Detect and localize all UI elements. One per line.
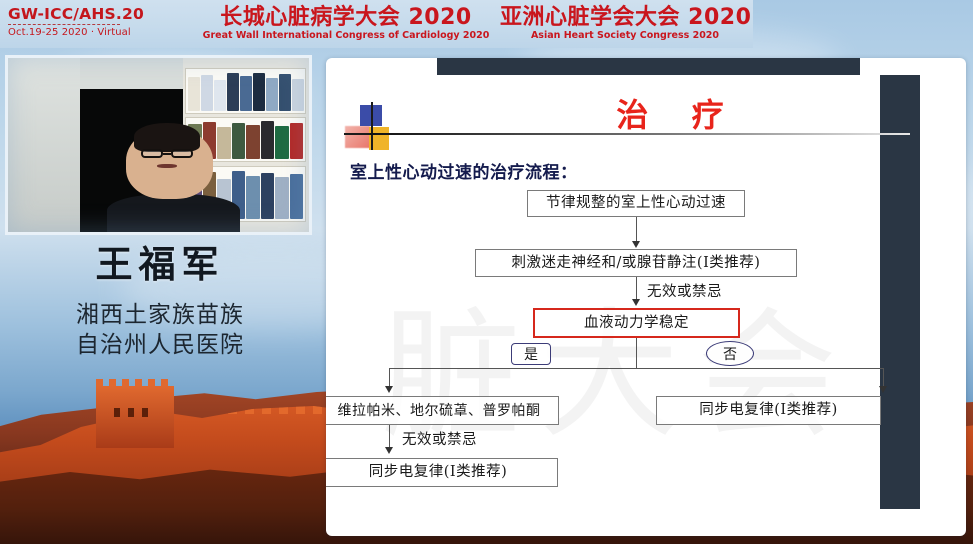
congress-title-ahs: 亚洲心脏学会大会 2020 Asian Heart Society Congre… xyxy=(500,6,750,41)
congress-logo-dates: Oct.19-25 2020 · Virtual xyxy=(8,27,144,38)
flow-arrow xyxy=(632,299,640,306)
flow-arrow xyxy=(385,386,393,393)
flow-label-ineffective-1: 无效或禁忌 xyxy=(647,280,722,301)
flow-box-rhythm-regular-svt: 节律规整的室上性心动过速 xyxy=(527,190,745,217)
speaker-organization: 湘西土家族苗族 自治州人民医院 xyxy=(0,300,320,361)
speaker-org-line2: 自治州人民医院 xyxy=(0,330,320,360)
flow-box-cardioversion-right: 同步电复律(Ⅰ类推荐) xyxy=(656,396,881,425)
slide-subtitle: 室上性心动过速的治疗流程： xyxy=(350,158,578,183)
congress-header-bar: GW-ICC/AHS.20 Oct.19-25 2020 · Virtual 长… xyxy=(0,0,753,48)
speaker-name: 王福军 xyxy=(0,245,320,286)
treatment-flowchart: 节律规整的室上性心动过速 刺激迷走神经和/或腺苷静注(Ⅰ类推荐) 无效或禁忌 血… xyxy=(326,188,966,518)
congress-logo: GW-ICC/AHS.20 Oct.19-25 2020 · Virtual xyxy=(8,5,144,38)
flow-tag-yes: 是 xyxy=(511,343,551,365)
gwicc-title-cn: 长城心脏病学大会 2020 xyxy=(202,6,490,29)
ahs-title-en: Asian Heart Society Congress 2020 xyxy=(500,30,750,41)
flow-box-hemodynamic-stable: 血液动力学稳定 xyxy=(533,308,740,338)
slide-decoration-icon xyxy=(344,102,396,150)
presentation-slide[interactable]: 脏大会 治 疗 室上性心动过速的治疗流程： 节律规整的室上性心动过速 刺激迷走神… xyxy=(326,58,966,536)
slide-title: 治 疗 xyxy=(558,90,798,136)
slide-top-accent-bar xyxy=(437,58,860,75)
presenter-video-tile[interactable] xyxy=(5,55,312,235)
slide-title-divider xyxy=(370,133,910,135)
speaker-org-line1: 湘西土家族苗族 xyxy=(0,300,320,330)
congress-logo-title: GW-ICC/AHS.20 xyxy=(8,5,144,23)
logo-divider xyxy=(8,24,120,26)
flow-connector xyxy=(636,338,637,368)
flow-tag-no: 否 xyxy=(706,341,754,366)
flow-box-verapamil-diltiazem-propafenone: 维拉帕米、地尔硫䓬、普罗帕酮 xyxy=(326,396,559,425)
flow-arrow xyxy=(385,447,393,454)
flow-arrow xyxy=(632,241,640,248)
speaker-info: 王福军 湘西土家族苗族 自治州人民医院 xyxy=(0,245,320,360)
flow-label-ineffective-2: 无效或禁忌 xyxy=(402,428,477,449)
congress-title-gwicc: 长城心脏病学大会 2020 Great Wall International C… xyxy=(202,6,490,41)
watchtower xyxy=(96,386,174,448)
flow-arrow xyxy=(879,386,887,393)
flow-box-vagal-adenosine: 刺激迷走神经和/或腺苷静注(Ⅰ类推荐) xyxy=(475,249,797,277)
gwicc-title-en: Great Wall International Congress of Car… xyxy=(202,30,490,41)
ahs-title-cn: 亚洲心脏学会大会 2020 xyxy=(500,6,750,29)
video-vignette xyxy=(8,58,309,232)
flow-box-cardioversion-bottom: 同步电复律(Ⅰ类推荐) xyxy=(326,458,558,487)
flow-connector xyxy=(389,368,884,369)
